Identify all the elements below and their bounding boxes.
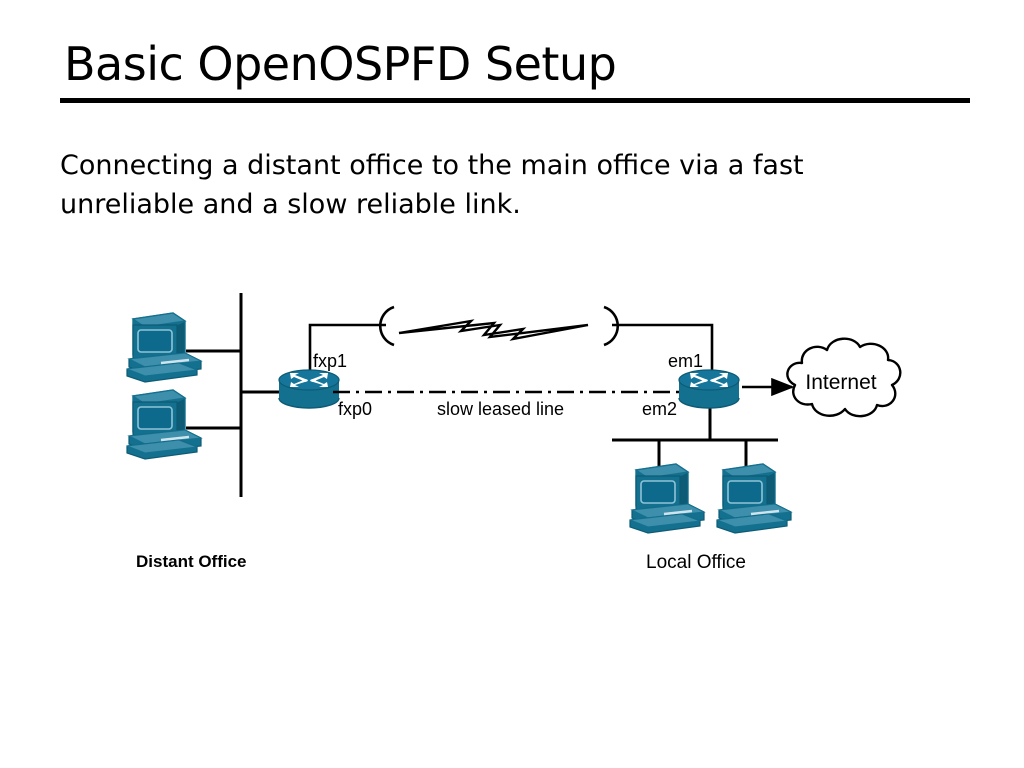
local-office-pc-left [630, 464, 704, 533]
distant-office-router [279, 370, 339, 408]
internet-cloud: Internet [787, 339, 900, 416]
iface-label-em1: em1 [668, 351, 703, 371]
distant-office-caption: Distant Office [136, 552, 247, 571]
iface-label-em2: em2 [642, 399, 677, 419]
iface-label-fxp0: fxp0 [338, 399, 372, 419]
iface-label-fxp1: fxp1 [313, 351, 347, 371]
local-office-router [679, 370, 739, 408]
local-office-pc-right [717, 464, 791, 533]
wireless-fast-link [380, 307, 712, 375]
lightning-bolt-icon [399, 321, 588, 339]
slide-canvas: Basic OpenOSPFD Setup Connecting a dista… [0, 0, 1024, 768]
network-diagram: fxp1 fxp0 slow leased line em1 em2 [0, 0, 1024, 768]
distant-office-pc-top [127, 313, 201, 382]
internet-cloud-label: Internet [805, 371, 876, 394]
slow-leased-line-label: slow leased line [437, 399, 564, 419]
distant-office-pc-bottom [127, 390, 201, 459]
local-office-caption: Local Office [646, 552, 746, 573]
